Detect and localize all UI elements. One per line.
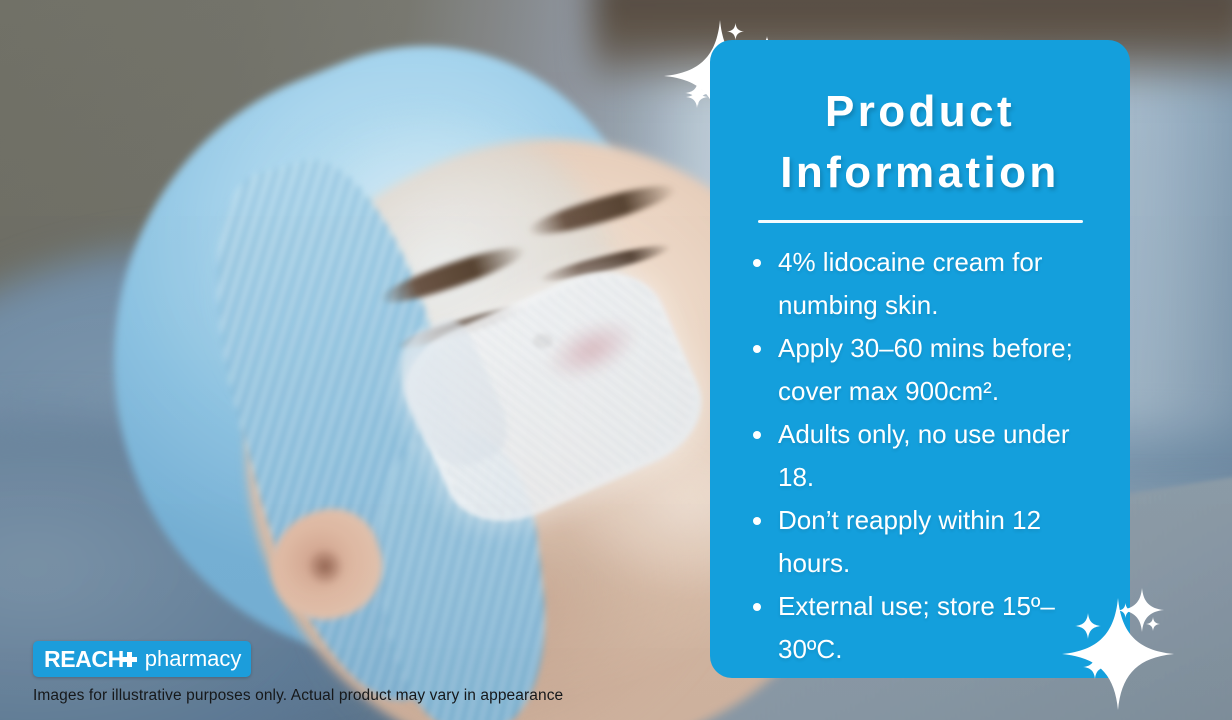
logo-brand-label: REACH — [44, 648, 124, 671]
title-divider — [758, 220, 1083, 223]
logo-suffix-label: pharmacy — [145, 648, 242, 670]
plus-cross-icon — [122, 652, 137, 667]
reach-pharmacy-logo[interactable]: REACH pharmacy — [33, 641, 251, 677]
promo-banner: Product Information 4% lidocaine cream f… — [0, 0, 1232, 720]
list-item: Don’t reapply within 12 hours. — [748, 499, 1096, 585]
list-item: Adults only, no use under 18. — [748, 413, 1096, 499]
disclaimer-text: Images for illustrative purposes only. A… — [33, 687, 563, 705]
list-item: External use; store 15º–30ºC. — [748, 585, 1096, 671]
list-item: Apply 30–60 mins before; cover max 900cm… — [748, 327, 1096, 413]
product-information-list: 4% lidocaine cream for numbing skin. App… — [744, 241, 1096, 671]
logo-brand-text: REACH — [44, 648, 137, 671]
list-item: 4% lidocaine cream for numbing skin. — [748, 241, 1096, 327]
product-information-card: Product Information 4% lidocaine cream f… — [710, 40, 1130, 678]
page-title: Product Information — [744, 82, 1096, 203]
